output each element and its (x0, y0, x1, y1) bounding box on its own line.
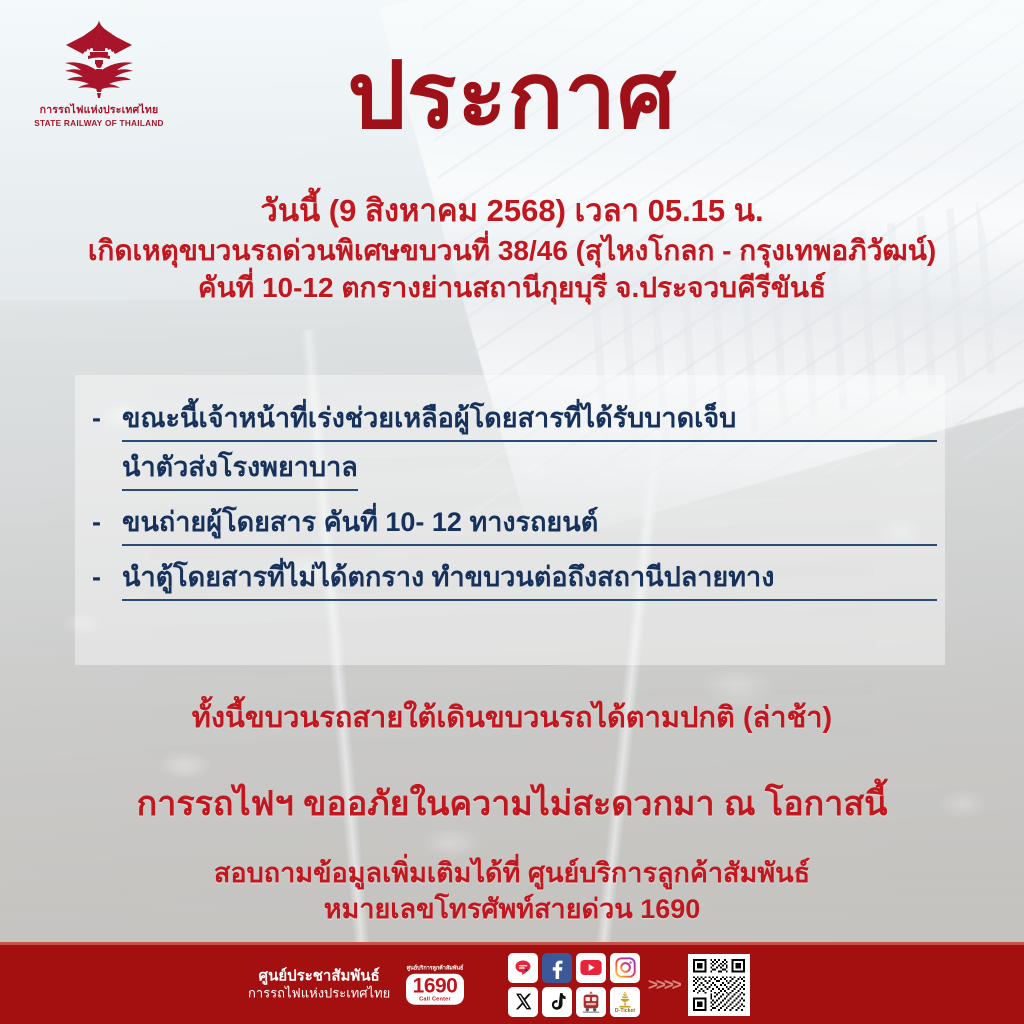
bullet-marker: - (92, 398, 122, 439)
announcement-poster: การรถไฟแห่งประเทศไทย STATE RAILWAY OF TH… (0, 0, 1024, 1024)
contact-line-1: สอบถามข้อมูลเพิ่มเติมได้ที่ ศูนย์บริการล… (0, 856, 1024, 892)
bullet-line: นำตู้โดยสารที่ไม่ได้ตกราง ทำขบวนต่อถึงสถ… (122, 557, 937, 601)
list-item: - นำตู้โดยสารที่ไม่ได้ตกราง ทำขบวนต่อถึง… (92, 557, 937, 606)
call-center-caption: ศูนย์บริการลูกค้าสัมพันธ์ (406, 964, 464, 972)
tiktok-icon[interactable] (542, 987, 572, 1017)
list-item: - ขณะนี้เจ้าหน้าที่เร่งช่วยเหลือผู้โดยสา… (92, 398, 937, 496)
srt-train-app-icon[interactable] (576, 987, 606, 1017)
line-icon[interactable] (508, 953, 538, 983)
list-item: - ขนถ่ายผู้โดยสาร คันที่ 10- 12 ทางรถยนต… (92, 502, 937, 551)
announcement-datetime: วันนี้ (9 สิงหาคม 2568) เวลา 05.15 น. (0, 190, 1024, 232)
announcement-location: คันที่ 10-12 ตกรางย่านสถานีกุยบุรี จ.ประ… (0, 269, 1024, 307)
bullet-line: ขณะนี้เจ้าหน้าที่เร่งช่วยเหลือผู้โดยสารท… (122, 398, 937, 442)
closing-block: ทั้งนี้ขบวนรถสายใต้เดินขบวนรถได้ตามปกติ … (0, 700, 1024, 928)
x-twitter-icon[interactable] (508, 987, 538, 1017)
svg-text:D-Ticket: D-Ticket (615, 1008, 635, 1014)
bullet-text: นำตู้โดยสารที่ไม่ได้ตกราง ทำขบวนต่อถึงสถ… (122, 557, 937, 606)
footer-org-line-2: การรถไฟแห่งประเทศไทย (248, 986, 390, 1002)
youtube-icon[interactable] (576, 953, 606, 983)
contact-line-2: หมายเลขโทรศัพท์สายด่วน 1690 (0, 892, 1024, 928)
social-icons: D-Ticket (508, 953, 640, 1017)
bullet-line: นำตัวส่งโรงพยาบาล (122, 447, 358, 491)
service-note: ทั้งนี้ขบวนรถสายใต้เดินขบวนรถได้ตามปกติ … (0, 700, 1024, 738)
call-center-number: 1690 (409, 975, 461, 996)
bullet-text: ขนถ่ายผู้โดยสาร คันที่ 10- 12 ทางรถยนต์ (122, 502, 937, 551)
footer-org-line-1: ศูนย์ประชาสัมพันธ์ (248, 967, 390, 986)
facebook-icon[interactable] (542, 953, 572, 983)
d-ticket-icon[interactable]: D-Ticket (610, 987, 640, 1017)
call-center-label: Call Center (409, 997, 461, 1003)
bullet-line: ขนถ่ายผู้โดยสาร คันที่ 10- 12 ทางรถยนต์ (122, 502, 937, 546)
call-center-box: 1690 Call Center (406, 973, 464, 1005)
qr-code-icon[interactable] (688, 954, 750, 1016)
apology-text: การรถไฟฯ ขออภัยในความไม่สะดวกมา ณ โอกาสน… (0, 782, 1024, 826)
bullet-marker: - (92, 502, 122, 543)
announcement-block: วันนี้ (9 สิงหาคม 2568) เวลา 05.15 น. เก… (0, 190, 1024, 307)
footer-org: ศูนย์ประชาสัมพันธ์ การรถไฟแห่งประเทศไทย (248, 967, 390, 1002)
bullet-list: - ขณะนี้เจ้าหน้าที่เร่งช่วยเหลือผู้โดยสา… (92, 398, 937, 612)
footer-bar: ศูนย์ประชาสัมพันธ์ การรถไฟแห่งประเทศไทย … (0, 942, 1024, 1024)
call-center-badge[interactable]: ศูนย์บริการลูกค้าสัมพันธ์ 1690 Call Cent… (406, 964, 464, 1005)
announcement-incident: เกิดเหตุขบวนรถด่วนพิเศษขบวนที่ 38/46 (สุ… (0, 232, 1024, 270)
arrows-indicator: >>>> (648, 975, 680, 995)
instagram-icon[interactable] (610, 953, 640, 983)
bullet-text: ขณะนี้เจ้าหน้าที่เร่งช่วยเหลือผู้โดยสารท… (122, 398, 937, 496)
bullet-marker: - (92, 557, 122, 598)
page-title: ประกาศ (0, 48, 1024, 145)
